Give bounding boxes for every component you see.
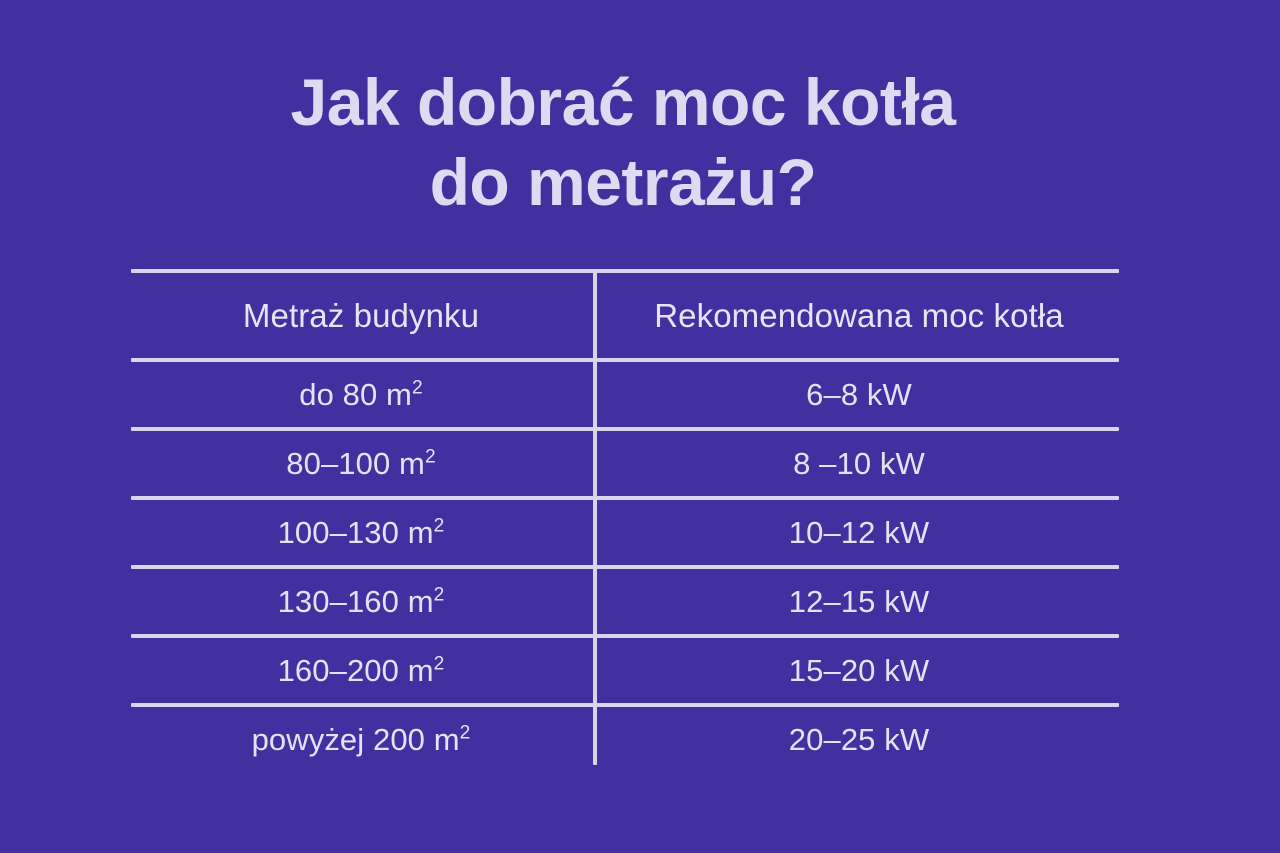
table-row: 160–200 m2 15–20 kW — [131, 638, 1119, 703]
table-cell-area-text: powyżej 200 m2 — [252, 722, 471, 758]
table-cell-area-text: 160–200 m2 — [278, 653, 445, 689]
table-cell-area: 130–160 m2 — [131, 569, 595, 634]
square-unit-superscript: 2 — [434, 653, 445, 674]
table-cell-power: 10–12 kW — [595, 500, 1119, 565]
table-row: 80–100 m2 8 –10 kW — [131, 431, 1119, 496]
square-unit-superscript: 2 — [434, 584, 445, 605]
table-cell-power-text: 6–8 kW — [806, 377, 912, 413]
infographic-canvas: Jak dobrać moc kotła do metrażu? Metraż … — [0, 0, 1280, 853]
table-cell-power: 20–25 kW — [595, 707, 1119, 772]
table-cell-area-text: do 80 m2 — [299, 377, 423, 413]
table-cell-power-text: 20–25 kW — [789, 722, 929, 758]
table-cell-power: 15–20 kW — [595, 638, 1119, 703]
table-header-cell-area: Metraż budynku — [131, 273, 595, 358]
table-cell-power-text: 8 –10 kW — [793, 446, 925, 482]
table-row: powyżej 200 m2 20–25 kW — [131, 707, 1119, 772]
table-cell-area: 160–200 m2 — [131, 638, 595, 703]
table-header-label-power: Rekomendowana moc kotła — [654, 297, 1064, 335]
square-unit-superscript: 2 — [434, 515, 445, 536]
square-unit-superscript: 2 — [425, 446, 436, 467]
square-unit-superscript: 2 — [460, 722, 471, 743]
page-title-line-1: Jak dobrać moc kotła — [0, 62, 1246, 142]
table-cell-power: 8 –10 kW — [595, 431, 1119, 496]
table-column-divider — [593, 269, 597, 765]
table-cell-power-text: 12–15 kW — [789, 584, 929, 620]
table-cell-area-text: 80–100 m2 — [286, 446, 435, 482]
table-header-row: Metraż budynku Rekomendowana moc kotła — [131, 273, 1119, 358]
table-cell-power: 6–8 kW — [595, 362, 1119, 427]
table-cell-power-text: 15–20 kW — [789, 653, 929, 689]
table-cell-power-text: 10–12 kW — [789, 515, 929, 551]
table-header-cell-power: Rekomendowana moc kotła — [595, 273, 1119, 358]
table-cell-area-text: 100–130 m2 — [278, 515, 445, 551]
table-row: do 80 m2 6–8 kW — [131, 362, 1119, 427]
table-header-label-area: Metraż budynku — [243, 297, 479, 335]
table-cell-area: 100–130 m2 — [131, 500, 595, 565]
table-cell-area: powyżej 200 m2 — [131, 707, 595, 772]
power-selection-table: Metraż budynku Rekomendowana moc kotła d… — [131, 269, 1119, 772]
table-cell-power: 12–15 kW — [595, 569, 1119, 634]
table-row: 100–130 m2 10–12 kW — [131, 500, 1119, 565]
page-title: Jak dobrać moc kotła do metrażu? — [0, 62, 1280, 222]
square-unit-superscript: 2 — [412, 377, 423, 398]
table-cell-area: 80–100 m2 — [131, 431, 595, 496]
table-cell-area-text: 130–160 m2 — [278, 584, 445, 620]
table-cell-area: do 80 m2 — [131, 362, 595, 427]
table-row: 130–160 m2 12–15 kW — [131, 569, 1119, 634]
page-title-line-2: do metrażu? — [0, 142, 1246, 222]
